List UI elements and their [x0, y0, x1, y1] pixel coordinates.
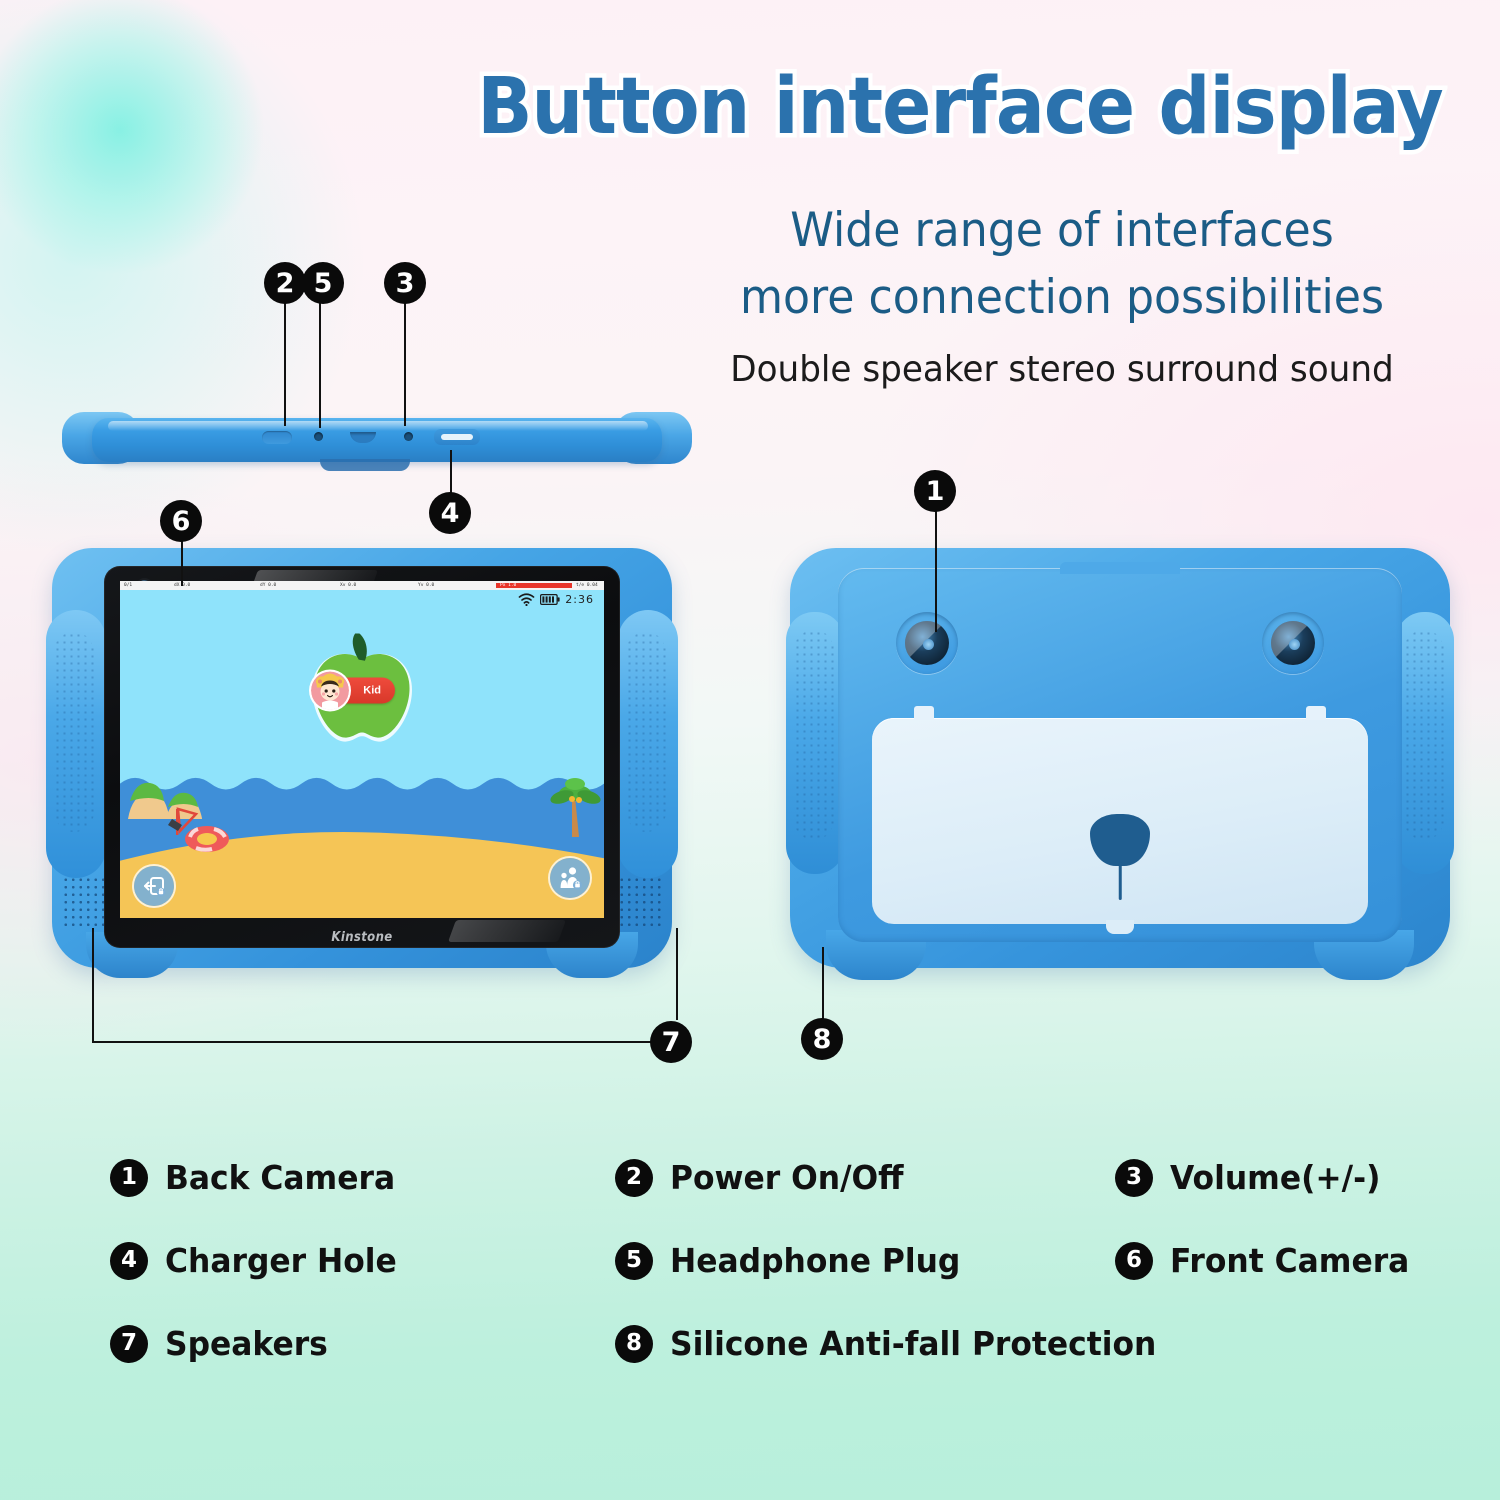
edge-foot — [320, 459, 410, 471]
callout-badge-8: 8 — [801, 1018, 843, 1060]
debug-seg-6: t/e 0.04 — [572, 583, 604, 588]
legend-label-1: Back Camera — [165, 1158, 395, 1197]
battery-icon — [540, 594, 560, 605]
volume-button[interactable] — [404, 432, 413, 441]
legend-number-7: 7 — [110, 1325, 148, 1363]
grip-texture-left — [54, 632, 94, 832]
charger-port[interactable] — [434, 429, 480, 445]
leader-line-2 — [284, 300, 286, 426]
subtitle-line-2: more connection possibilities — [705, 265, 1419, 332]
case-grip-right — [618, 610, 678, 878]
legend-number-2: 2 — [615, 1159, 653, 1197]
child-avatar-icon[interactable] — [311, 671, 349, 709]
back-grip-left — [786, 612, 844, 874]
legend-grid: 1 Back Camera 2 Power On/Off 3 Volume(+/… — [110, 1158, 1430, 1363]
leader-line-3 — [404, 300, 406, 426]
status-clock: 2:36 — [565, 593, 594, 606]
legend-label-5: Headphone Plug — [670, 1241, 960, 1280]
speaker-grille-right — [618, 876, 662, 930]
subtitle-line-3: Double speaker stereo surround sound — [701, 349, 1423, 390]
debug-seg-3: Xv 0.0 — [336, 583, 414, 588]
debug-status-strip: 0/1 dX 0.0 dY 0.0 Xv 0.0 Yv 0.0 Px 1.0 t… — [120, 581, 604, 590]
bear-muzzle-panel — [872, 718, 1368, 924]
legend-label-2: Power On/Off — [670, 1158, 904, 1197]
app-profile-widget[interactable]: Kid — [297, 633, 427, 758]
muzzle-tab-right — [1306, 706, 1326, 720]
legend-item-headphone: 5 Headphone Plug — [615, 1241, 1115, 1280]
callout-badge-7: 7 — [650, 1021, 692, 1063]
debug-seg-5: Px 1.0 — [496, 583, 572, 588]
debug-seg-1: dX 0.0 — [170, 583, 256, 588]
switch-user-lock-icon[interactable] — [134, 866, 174, 906]
legend-label-3: Volume(+/-) — [1170, 1158, 1380, 1197]
headphone-hole[interactable] — [314, 432, 323, 441]
grip-texture-right — [626, 632, 666, 832]
back-panel-tab — [1060, 562, 1180, 574]
muzzle-chin — [1106, 920, 1134, 934]
bear-nose-line — [1119, 862, 1122, 900]
back-grip-texture-right — [1404, 630, 1444, 840]
legend-item-front-camera: 6 Front Camera — [1115, 1241, 1430, 1280]
page-title: Button interface display — [467, 62, 1453, 152]
debug-seg-4: Yv 0.0 — [414, 583, 496, 588]
legend: 1 Back Camera 2 Power On/Off 3 Volume(+/… — [110, 1158, 1430, 1363]
legend-item-power: 2 Power On/Off — [615, 1158, 1115, 1197]
legend-label-7: Speakers — [165, 1324, 328, 1363]
tablet-top-edge-view — [62, 412, 692, 478]
legend-number-1: 1 — [110, 1159, 148, 1197]
legend-item-back-camera: 1 Back Camera — [110, 1158, 615, 1197]
back-panel — [838, 568, 1402, 942]
callout-badge-4: 4 — [429, 492, 471, 534]
leader-line-7-right — [676, 928, 678, 1020]
legend-number-4: 4 — [110, 1242, 148, 1280]
legend-number-8: 8 — [615, 1325, 653, 1363]
status-icons: 2:36 — [518, 593, 594, 606]
callout-badge-3: 3 — [384, 262, 426, 304]
legend-number-6: 6 — [1115, 1242, 1153, 1280]
back-grip-right — [1396, 612, 1454, 874]
tablet-front-view: Kinstone 0/1 dX 0.0 dY 0.0 Xv 0.0 Yv 0.0… — [52, 548, 672, 968]
legend-item-volume: 3 Volume(+/-) — [1115, 1158, 1430, 1197]
legend-item-silicone: 8 Silicone Anti-fall Protection — [615, 1324, 1115, 1363]
edge-highlight — [108, 421, 648, 431]
parental-control-lock-icon[interactable] — [550, 858, 590, 898]
back-grip-texture-left — [794, 630, 834, 840]
legend-number-3: 3 — [1115, 1159, 1153, 1197]
scene-beach-toys — [162, 801, 240, 853]
scene-palm-tree — [548, 771, 602, 841]
brand-logo: Kinstone — [130, 930, 594, 945]
leader-line-6 — [181, 540, 183, 586]
legend-label-4: Charger Hole — [165, 1241, 397, 1280]
leader-line-7-left — [92, 928, 94, 1042]
back-camera-secondary-lens — [1271, 621, 1315, 665]
leader-line-5 — [319, 300, 321, 428]
screen-bezel: Kinstone 0/1 dX 0.0 dY 0.0 Xv 0.0 Yv 0.0… — [104, 566, 620, 948]
debug-seg-2: dY 0.0 — [256, 583, 336, 588]
debug-seg-0: 0/1 — [120, 583, 170, 588]
legend-label-6: Front Camera — [1170, 1241, 1409, 1280]
back-camera-secondary — [1262, 612, 1324, 674]
subtitle-line-1: Wide range of interfaces — [705, 198, 1419, 265]
charger-port-opening — [441, 434, 473, 440]
power-button[interactable] — [262, 431, 292, 444]
tablet-screen[interactable]: 0/1 dX 0.0 dY 0.0 Xv 0.0 Yv 0.0 Px 1.0 t… — [120, 581, 604, 918]
legend-item-charger: 4 Charger Hole — [110, 1241, 615, 1280]
subtitle-block: Wide range of interfaces more connection… — [682, 198, 1442, 390]
callout-badge-6: 6 — [160, 500, 202, 542]
tablet-back-view — [790, 548, 1450, 968]
back-camera — [896, 612, 958, 674]
case-grip-left — [46, 610, 106, 878]
wifi-icon — [518, 593, 535, 606]
callout-badge-5: 5 — [302, 262, 344, 304]
callout-badge-2: 2 — [264, 262, 306, 304]
back-camera-lens — [905, 621, 949, 665]
legend-label-8: Silicone Anti-fall Protection — [670, 1324, 1156, 1363]
legend-number-5: 5 — [615, 1242, 653, 1280]
muzzle-tab-left — [914, 706, 934, 720]
speaker-grille-left — [62, 876, 106, 930]
callout-badge-1: 1 — [914, 470, 956, 512]
leader-line-8 — [822, 947, 824, 1019]
bear-nose — [1090, 814, 1150, 866]
leader-line-1 — [935, 510, 937, 632]
leader-line-7-bracket — [92, 1041, 678, 1043]
legend-item-speakers: 7 Speakers — [110, 1324, 615, 1363]
